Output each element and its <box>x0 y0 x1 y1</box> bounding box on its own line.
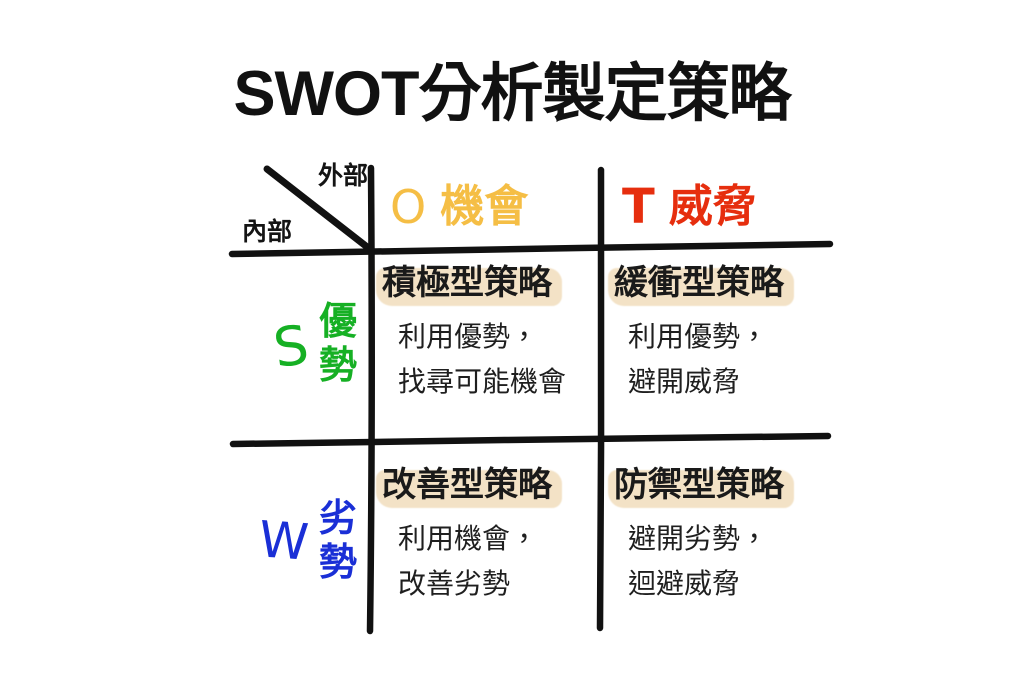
column-header-opportunities: O 機會 <box>390 167 528 247</box>
cell-heading-wrap: 緩衝型策略 <box>614 262 784 304</box>
cell-body-line: 利用優勢， <box>398 314 594 359</box>
column-mark-t: T <box>622 182 655 232</box>
column-divider-line-right <box>600 170 601 628</box>
cell-body-line: 利用機會， <box>398 516 594 561</box>
cell-body: 利用優勢， 找尋可能機會 <box>398 314 594 404</box>
cell-strengths-opportunities: 積極型策略 利用優勢， 找尋可能機會 <box>382 262 594 404</box>
column-divider-line-left <box>370 168 372 631</box>
row-label-strengths: 優勢 <box>314 300 362 388</box>
cell-heading-wrap: 改善型策略 <box>382 464 552 506</box>
cell-heading: 防禦型策略 <box>614 466 784 504</box>
row-mark-w: W <box>257 511 310 570</box>
cell-body: 避開劣勢， 迴避威脅 <box>628 516 826 606</box>
page-title: SWOT分析製定策略 <box>0 58 1024 130</box>
cell-body: 利用機會， 改善劣勢 <box>398 516 594 606</box>
cell-heading-wrap: 防禦型策略 <box>614 464 784 506</box>
row-header-weaknesses: W 劣勢 <box>210 466 370 616</box>
cell-heading-wrap: 積極型策略 <box>382 262 552 304</box>
row-header-strengths: S 優勢 <box>210 272 370 422</box>
cell-body-line: 迴避威脅 <box>628 561 826 606</box>
cell-body-line: 利用優勢， <box>628 314 826 359</box>
cell-weaknesses-threats: 防禦型策略 避開劣勢， 迴避威脅 <box>614 464 826 606</box>
row-mark-s: S <box>270 317 312 377</box>
axis-label-internal: 內部 <box>242 218 292 246</box>
cell-heading: 緩衝型策略 <box>614 264 784 302</box>
cell-heading: 改善型策略 <box>382 466 552 504</box>
cell-body-line: 避開劣勢， <box>628 516 826 561</box>
cell-strengths-threats: 緩衝型策略 利用優勢， 避開威脅 <box>614 262 826 404</box>
axis-corner-cell: 外部 內部 <box>232 160 370 252</box>
cell-body-line: 改善劣勢 <box>398 561 594 606</box>
column-header-threats: T 威脅 <box>622 167 757 247</box>
cell-body: 利用優勢， 避開威脅 <box>628 314 826 404</box>
swot-diagram: SWOT分析製定策略 外部 內部 O 機會 T 威脅 S 優勢 W 劣勢 <box>0 0 1024 683</box>
row-divider-line <box>233 436 828 444</box>
axis-label-external: 外部 <box>318 162 368 190</box>
cell-weaknesses-opportunities: 改善型策略 利用機會， 改善劣勢 <box>382 464 594 606</box>
cell-body-line: 找尋可能機會 <box>398 359 594 404</box>
column-label-opportunities: 機會 <box>440 182 528 232</box>
row-label-weaknesses: 劣勢 <box>314 497 362 585</box>
column-label-threats: 威脅 <box>669 182 757 232</box>
cell-body-line: 避開威脅 <box>628 359 826 404</box>
column-mark-o: O <box>390 182 426 232</box>
cell-heading: 積極型策略 <box>382 264 552 302</box>
